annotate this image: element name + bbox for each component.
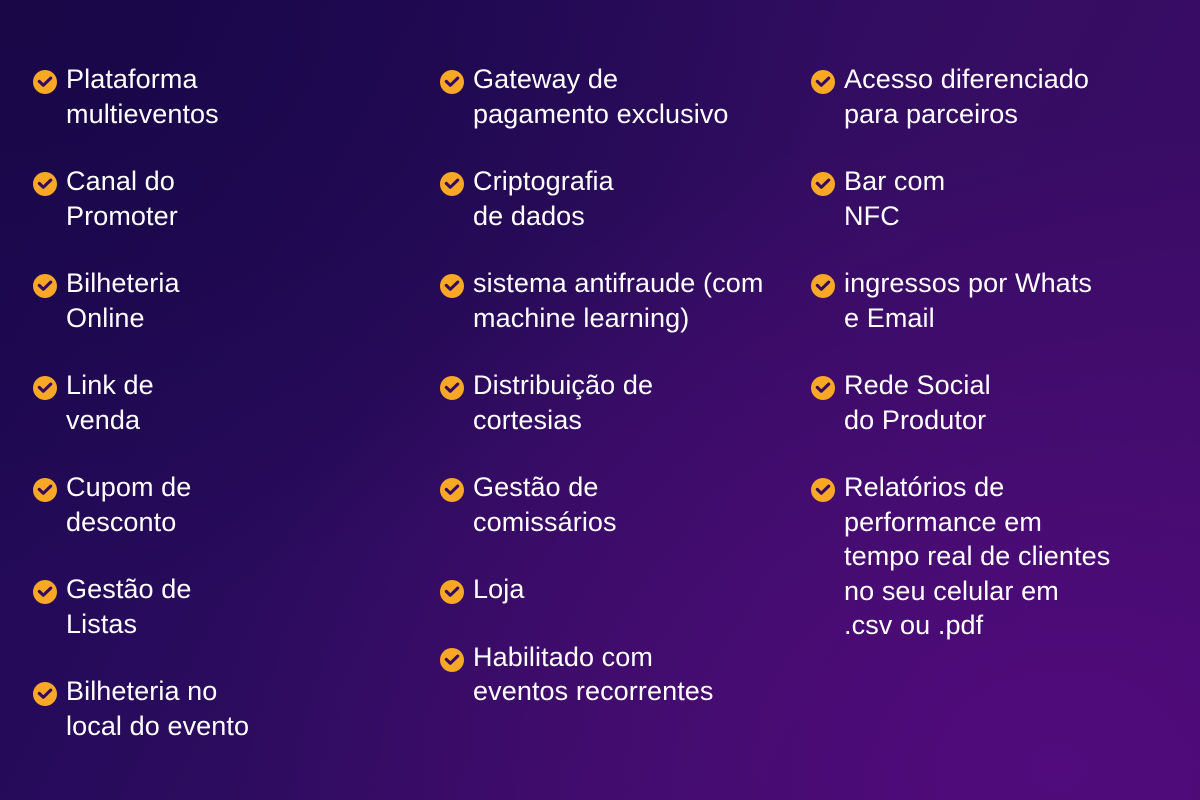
check-circle-icon: [440, 478, 464, 502]
feature-item-label: Cupom de desconto: [66, 470, 191, 539]
feature-item: Gateway de pagamento exclusivo: [440, 62, 783, 131]
feature-item-label: Plataforma multieventos: [66, 62, 219, 131]
check-circle-icon: [440, 172, 464, 196]
feature-item-label: Gestão de Listas: [66, 572, 192, 641]
check-circle-icon: [33, 478, 57, 502]
feature-item-label: Bilheteria Online: [66, 266, 180, 335]
check-circle-icon: [440, 70, 464, 94]
feature-item-label: Acesso diferenciado para parceiros: [844, 62, 1089, 131]
feature-item: Bar com NFC: [811, 164, 1188, 233]
feature-item-label: Rede Social do Produtor: [844, 368, 991, 437]
feature-item-label: sistema antifraude (com machine learning…: [473, 266, 763, 335]
feature-item-label: Link de venda: [66, 368, 154, 437]
check-circle-icon: [440, 274, 464, 298]
check-circle-icon: [440, 648, 464, 672]
feature-item: Rede Social do Produtor: [811, 368, 1188, 437]
check-circle-icon: [33, 580, 57, 604]
feature-item: Habilitado com eventos recorrentes: [440, 640, 783, 709]
feature-item-label: Relatórios de performance em tempo real …: [844, 470, 1110, 643]
check-circle-icon: [811, 172, 835, 196]
check-circle-icon: [811, 70, 835, 94]
check-circle-icon: [811, 478, 835, 502]
feature-item-label: ingressos por Whats e Email: [844, 266, 1092, 335]
feature-item: Gestão de Listas: [33, 572, 393, 641]
feature-item: sistema antifraude (com machine learning…: [440, 266, 783, 335]
feature-item-label: Gestão de comissários: [473, 470, 617, 539]
feature-item: Canal do Promoter: [33, 164, 393, 233]
feature-item: Bilheteria Online: [33, 266, 393, 335]
feature-item: ingressos por Whats e Email: [811, 266, 1188, 335]
feature-item-label: Bilheteria no local do evento: [66, 674, 249, 743]
column-left: Plataforma multieventosCanal do Promoter…: [0, 62, 403, 800]
check-circle-icon: [33, 172, 57, 196]
column-middle: Gateway de pagamento exclusivoCriptograf…: [403, 62, 793, 800]
feature-item: Loja: [440, 572, 783, 607]
check-circle-icon: [440, 580, 464, 604]
feature-item-label: Bar com NFC: [844, 164, 945, 233]
check-circle-icon: [811, 376, 835, 400]
check-circle-icon: [811, 274, 835, 298]
check-circle-icon: [33, 376, 57, 400]
column-right: Acesso diferenciado para parceirosBar co…: [793, 62, 1200, 800]
feature-item-label: Canal do Promoter: [66, 164, 178, 233]
feature-item-label: Distribuição de cortesias: [473, 368, 653, 437]
check-circle-icon: [33, 274, 57, 298]
feature-item-label: Habilitado com eventos recorrentes: [473, 640, 714, 709]
feature-item: Criptografia de dados: [440, 164, 783, 233]
feature-item: Link de venda: [33, 368, 393, 437]
feature-item: Plataforma multieventos: [33, 62, 393, 131]
feature-list-poster: Plataforma multieventosCanal do Promoter…: [0, 0, 1200, 800]
check-circle-icon: [33, 70, 57, 94]
feature-item: Cupom de desconto: [33, 470, 393, 539]
feature-item: Acesso diferenciado para parceiros: [811, 62, 1188, 131]
feature-item: Gestão de comissários: [440, 470, 783, 539]
feature-item: Relatórios de performance em tempo real …: [811, 470, 1188, 643]
feature-columns: Plataforma multieventosCanal do Promoter…: [0, 0, 1200, 800]
feature-item-label: Loja: [473, 572, 524, 607]
feature-item: Bilheteria no local do evento: [33, 674, 393, 743]
feature-item: Distribuição de cortesias: [440, 368, 783, 437]
check-circle-icon: [440, 376, 464, 400]
check-circle-icon: [33, 682, 57, 706]
feature-item-label: Gateway de pagamento exclusivo: [473, 62, 729, 131]
feature-item-label: Criptografia de dados: [473, 164, 614, 233]
